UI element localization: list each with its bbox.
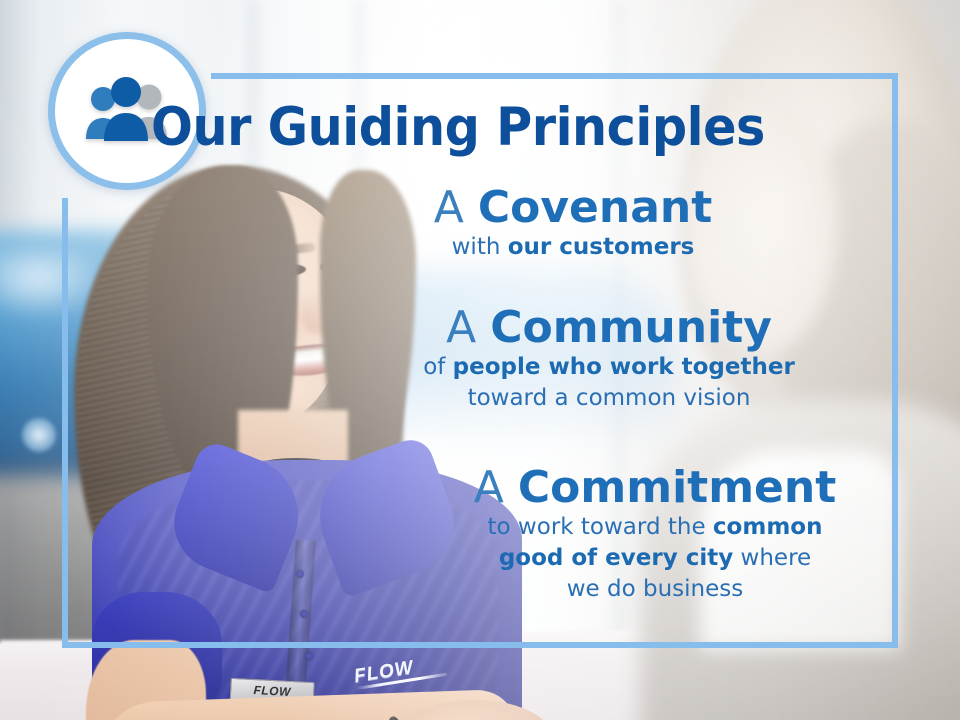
guiding-principles-graphic: FLOW FLOW [0, 0, 960, 720]
subtext-line: to work toward the common [418, 512, 892, 543]
principle-article: A [434, 182, 464, 233]
principle-community: A Community of people who work together … [374, 305, 844, 414]
principle-article: A [446, 302, 476, 353]
principle-keyword: Covenant [478, 182, 712, 233]
text-content: Our Guiding Principles A Covenant with o… [62, 73, 898, 648]
principle-commitment: A Commitment to work toward the common g… [418, 465, 892, 605]
principle-covenant: A Covenant with our customers [338, 185, 808, 263]
principle-keyword: Commitment [518, 462, 836, 513]
car-emblem [22, 418, 56, 452]
principle-subtext: to work toward the common good of every … [418, 512, 892, 605]
principle-headline: A Covenant [338, 185, 808, 232]
subtext-line: of people who work together [374, 352, 844, 383]
principle-headline: A Community [374, 305, 844, 352]
subtext-line: toward a common vision [374, 383, 844, 414]
principle-headline: A Commitment [418, 465, 892, 512]
principle-subtext: with our customers [338, 232, 808, 263]
subtext-line: we do business [418, 574, 892, 605]
polo-button [305, 652, 313, 660]
principle-keyword: Community [490, 302, 772, 353]
principle-article: A [474, 462, 504, 513]
subtext-line: with our customers [338, 232, 808, 263]
principle-subtext: of people who work together toward a com… [374, 352, 844, 414]
page-title: Our Guiding Principles [90, 101, 827, 154]
subtext-line: good of every city where [418, 543, 892, 574]
